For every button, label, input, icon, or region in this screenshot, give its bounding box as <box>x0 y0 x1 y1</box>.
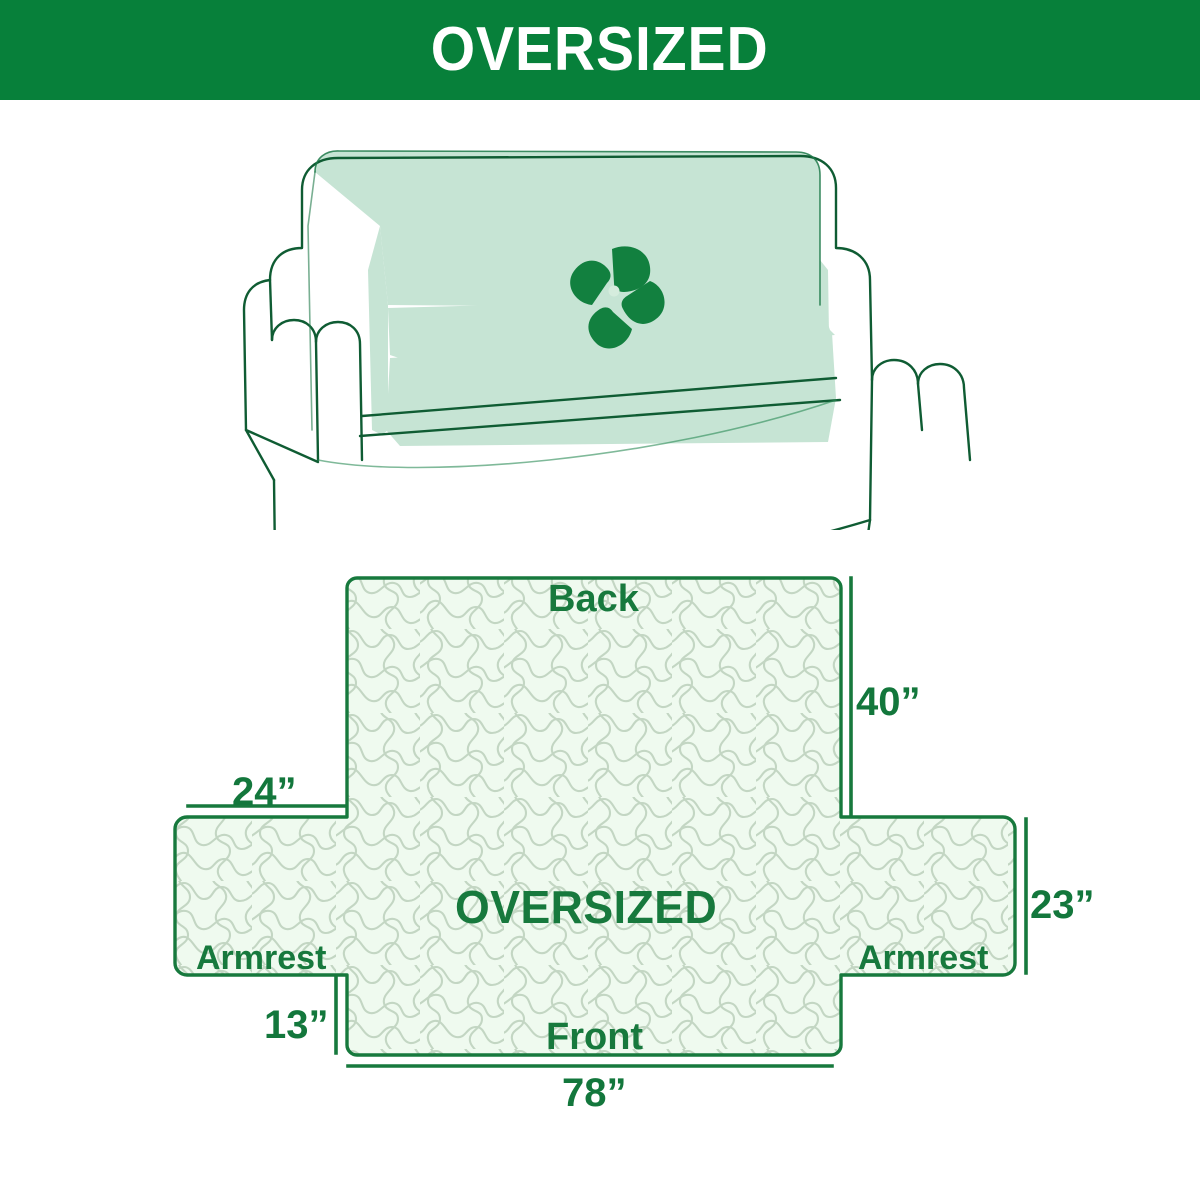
panel-label-armrest-right: Armrest <box>858 941 988 975</box>
panel-label-front: Front <box>546 1018 643 1056</box>
dimension-label-13: 13” <box>264 1005 329 1045</box>
dimension-label-24: 24” <box>232 772 297 812</box>
sofa-illustration <box>240 130 980 530</box>
slipcover-fill-area <box>315 151 836 446</box>
dimension-label-40: 40” <box>856 682 921 722</box>
page-title: OVERSIZED <box>431 19 769 81</box>
diagram-center-label: OVERSIZED <box>455 884 717 930</box>
header-banner: OVERSIZED <box>0 0 1200 100</box>
dimension-label-78: 78” <box>562 1073 627 1113</box>
cover-cross-shape <box>175 578 1015 1055</box>
dimension-label-23: 23” <box>1030 885 1095 925</box>
panel-label-back: Back <box>548 580 639 618</box>
panel-label-armrest-left: Armrest <box>196 941 326 975</box>
